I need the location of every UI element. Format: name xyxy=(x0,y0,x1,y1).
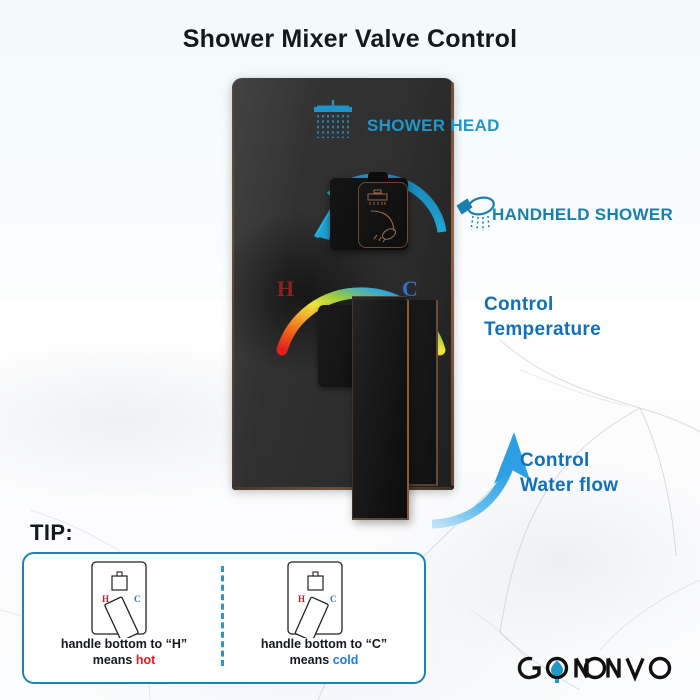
tip-caption-hot-line1: handle bottom to “H” xyxy=(24,636,224,652)
plate-bottom-edge xyxy=(234,487,452,490)
tip-caption-cold: handle bottom to “C” means cold xyxy=(224,636,424,668)
shower-head-icon xyxy=(306,98,362,142)
tip-caption-cold-word: cold xyxy=(333,653,359,667)
tip-diagram-cold: H C xyxy=(272,560,368,638)
tip-caption-hot: handle bottom to “H” means hot xyxy=(24,636,224,668)
label-control-temperature-line1: Control xyxy=(484,292,601,317)
tip-dashed-divider xyxy=(221,566,224,666)
tip-caption-hot-word: hot xyxy=(136,653,155,667)
shower-head-glyph-icon xyxy=(366,189,392,211)
tip-item-hot: H C handle bottom to “H” means hot xyxy=(24,554,224,682)
tip-item-cold: H C handle bottom to “C” means cold xyxy=(224,554,424,682)
svg-text:H: H xyxy=(298,594,305,604)
label-handheld-shower: HANDHELD SHOWER xyxy=(492,205,673,225)
page-title: Shower Mixer Valve Control xyxy=(0,25,700,54)
mixer-handle-lever[interactable] xyxy=(352,300,409,520)
tip-heading: TIP: xyxy=(30,520,73,546)
label-control-water-flow-line1: Control xyxy=(520,448,618,473)
label-shower-head: SHOWER HEAD xyxy=(367,116,500,136)
label-control-water-flow-line2: Water flow xyxy=(520,473,618,498)
tip-caption-cold-line2: means cold xyxy=(224,652,424,668)
tip-caption-hot-line2: means hot xyxy=(24,652,224,668)
label-control-water-flow: Control Water flow xyxy=(520,448,618,498)
brand-logo xyxy=(512,648,682,688)
diverter-button-face xyxy=(358,182,408,248)
diverter-button[interactable] xyxy=(330,178,408,250)
tip-caption-hot-prefix: means xyxy=(93,653,136,667)
tip-diagram-hot: H C xyxy=(76,560,172,638)
svg-text:C: C xyxy=(134,594,141,604)
tip-box: H C handle bottom to “H” means hot H C h… xyxy=(22,552,426,684)
diverter-button-tab xyxy=(368,172,388,182)
tip-caption-cold-line1: handle bottom to “C” xyxy=(224,636,424,652)
svg-text:C: C xyxy=(330,594,337,604)
plate-left-edge xyxy=(232,88,234,484)
handheld-glyph-icon xyxy=(369,209,403,243)
tip-caption-cold-prefix: means xyxy=(290,653,333,667)
label-control-temperature-line2: Temperature xyxy=(484,317,601,342)
label-control-temperature: Control Temperature xyxy=(484,292,601,342)
screenshot-stage: Shower Mixer Valve Control H C xyxy=(0,0,700,700)
